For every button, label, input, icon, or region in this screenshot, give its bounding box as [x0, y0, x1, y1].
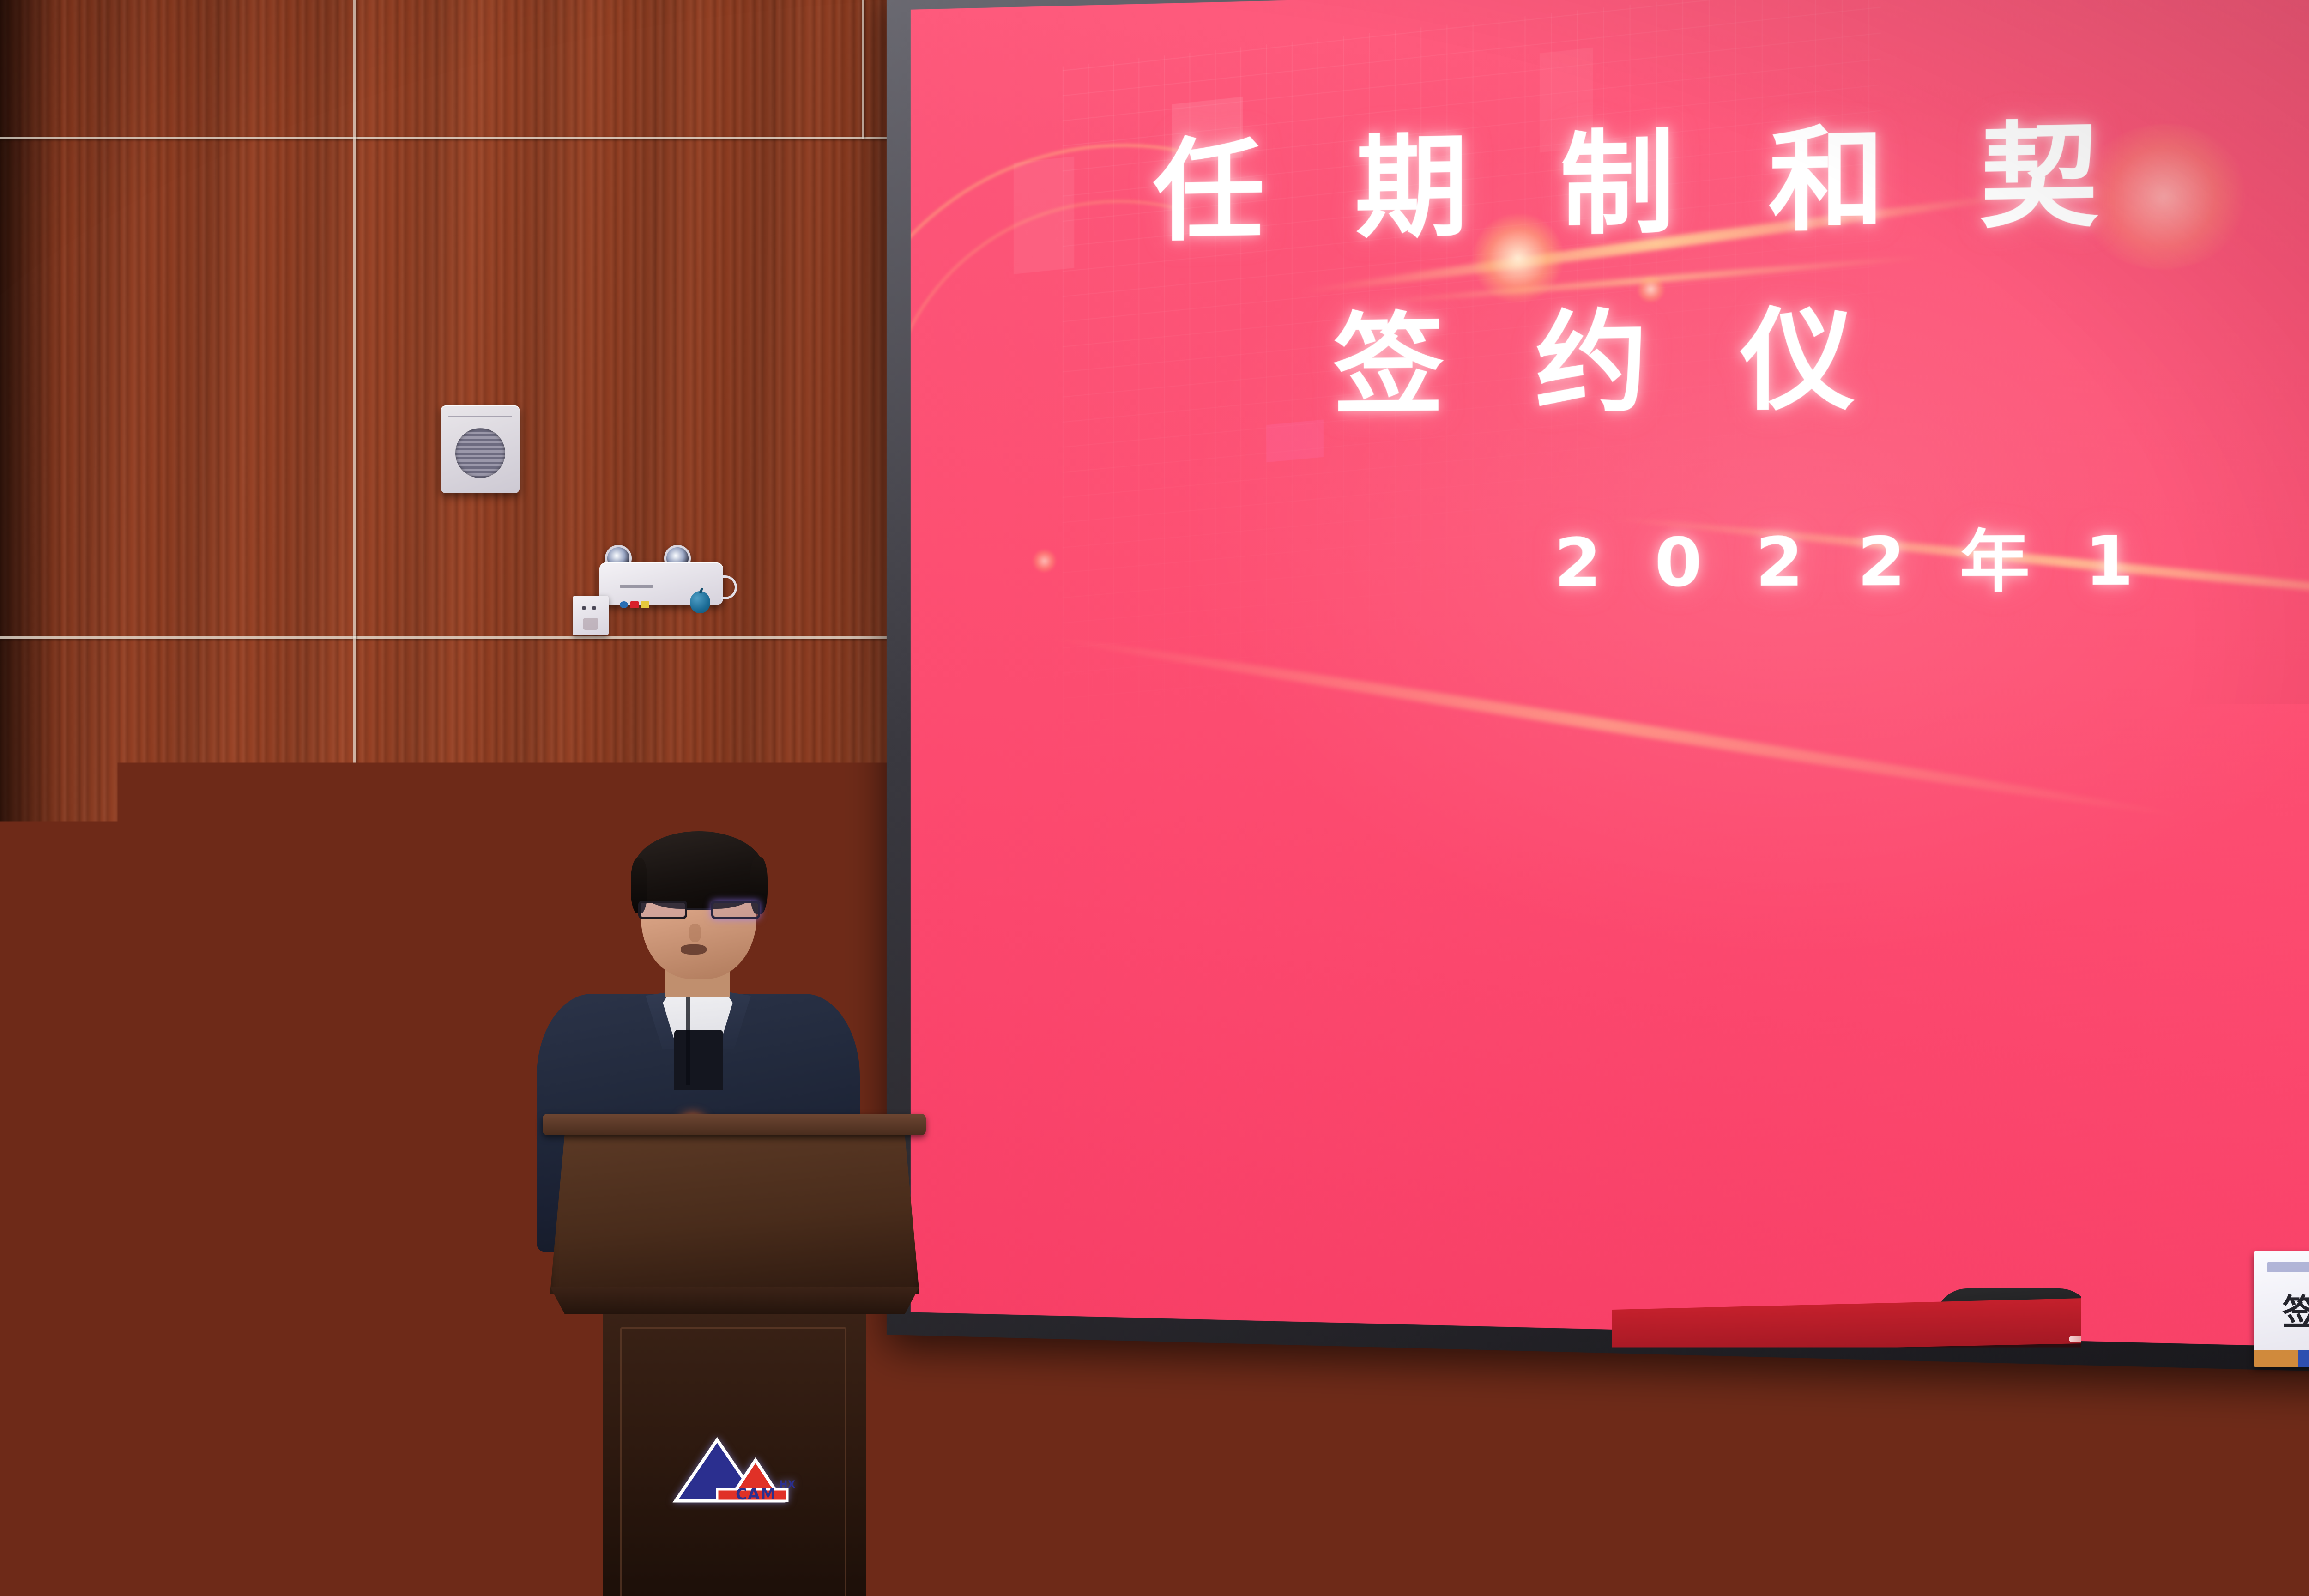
- watermark-url: www.camhx.com: [1851, 1514, 2309, 1554]
- cert-icon-yellow: [641, 601, 649, 608]
- cam-hx-logo-icon: CAM HX: [666, 1432, 805, 1510]
- card-header-mark: [2267, 1262, 2309, 1273]
- wall-seam-vertical: [862, 0, 864, 139]
- power-cord: [721, 575, 737, 599]
- vent-slit: [448, 416, 512, 417]
- seat-card-text: 签约席: [2282, 1284, 2309, 1335]
- cert-icon-red: [630, 601, 639, 608]
- name-card-signing-seat: 签约席: [2254, 1251, 2309, 1367]
- speaker-mouth: [681, 944, 707, 955]
- name-card-text: 薛松海: [2188, 1341, 2255, 1371]
- wall-left-shadow: [0, 0, 65, 1596]
- glasses-bridge: [687, 908, 711, 910]
- strip-blue: [2298, 1350, 2309, 1367]
- wall-seam-vertical: [353, 636, 356, 1126]
- speaker-inner-top: [674, 1030, 723, 1090]
- wall-seam-vertical: [353, 0, 356, 638]
- podium-desk-front: [550, 1287, 919, 1314]
- brand-mark: [620, 585, 653, 588]
- glasses-lens-right: [711, 901, 760, 919]
- wall-exhaust-fan-icon: [441, 405, 520, 493]
- svg-text:HX: HX: [779, 1479, 795, 1491]
- card-color-strip: [2254, 1350, 2309, 1367]
- glasses-icon: [638, 901, 760, 920]
- apple-logo-icon: [690, 591, 710, 613]
- led-screen-frame: 任 期 制 和 契 签 约 仪 2 0 2 2 年 1: [887, 0, 2309, 1376]
- podium-desk: [550, 1132, 919, 1294]
- strip-orange: [2254, 1350, 2298, 1367]
- vent-grille: [455, 428, 505, 478]
- certification-chips: [620, 601, 649, 608]
- glasses-lens-left: [638, 901, 687, 919]
- watermark: 机械科学研究总院海西分院 www.camhx.com: [1851, 1474, 2309, 1554]
- watermark-organization: 机械科学研究总院海西分院: [1851, 1474, 2309, 1514]
- emergency-light-body: [599, 562, 723, 605]
- podium-top-edge: [543, 1114, 926, 1135]
- socket-hole: [582, 606, 586, 610]
- alarm-led-indicator-icon: [490, 962, 496, 968]
- wall-power-socket[interactable]: [573, 596, 609, 635]
- fire-alarm-call-point[interactable]: [464, 953, 506, 989]
- socket-hole: [592, 606, 596, 610]
- strip-orange: [2164, 1383, 2198, 1395]
- screen-date-line: 2 0 2 2 年 1: [1554, 507, 2149, 605]
- wall-seam-horizontal: [0, 1451, 545, 1454]
- screen-title-line-1: 任 期 制 和 契: [1153, 82, 2126, 262]
- led-screen-bezel: 任 期 制 和 契 签 约 仪 2 0 2 2 年 1: [911, 0, 2309, 1352]
- card-header-mark: [2173, 1324, 2212, 1331]
- cert-icon-ccc: [620, 601, 628, 608]
- speaker-nose: [689, 924, 701, 942]
- audience-microphone-stand: [1395, 1441, 1399, 1494]
- speaker-podium: CAM HX: [543, 1114, 926, 1596]
- emergency-light-fixture: [586, 545, 739, 605]
- card-color-strip: [2164, 1383, 2279, 1395]
- svg-text:CAM: CAM: [736, 1485, 776, 1504]
- speaker-hair: [634, 831, 764, 909]
- led-screen-display: 任 期 制 和 契 签 约 仪 2 0 2 2 年 1: [911, 0, 2309, 1352]
- screen-text-block: 任 期 制 和 契 签 约 仪 2 0 2 2 年 1: [911, 0, 2309, 1352]
- screen-title-line-2: 签 约 仪: [1333, 269, 1882, 435]
- strip-blue: [2198, 1383, 2279, 1395]
- photograph-scene: 安全 出口: [0, 0, 2309, 1596]
